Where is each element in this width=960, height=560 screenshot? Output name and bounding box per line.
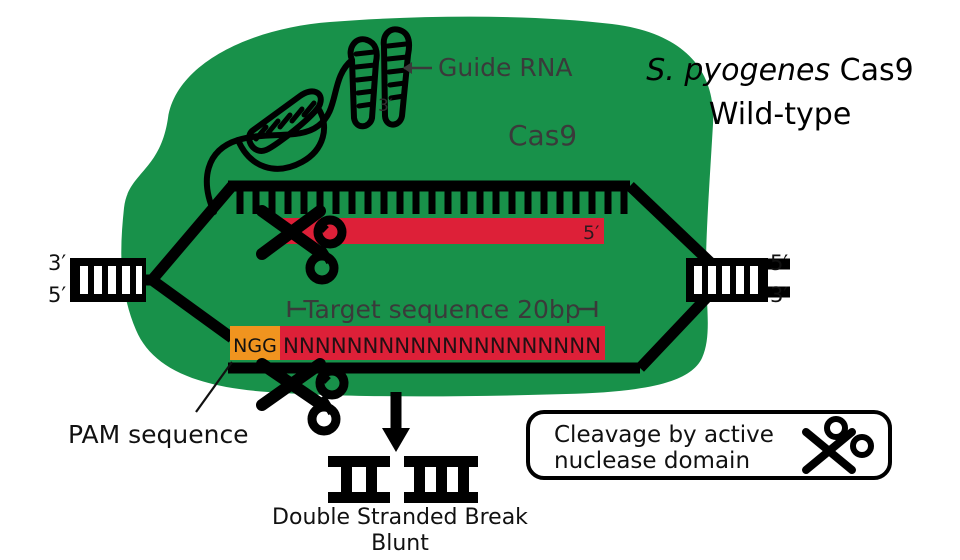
dsb-fragment-left bbox=[328, 456, 390, 503]
dsb-fragment-right bbox=[404, 456, 478, 503]
right-end-top-label: 5′ bbox=[770, 251, 788, 275]
guide-rna-label: Guide RNA bbox=[438, 53, 573, 82]
protospacer-sequence-label: NNNNNNNNNNNNNNNNNNNN bbox=[283, 334, 601, 358]
legend-label-line2: nuclease domain bbox=[554, 448, 750, 474]
left-end-top-label: 3′ bbox=[48, 251, 66, 275]
left-dna-end bbox=[70, 258, 146, 302]
legend-label-line1: Cleavage by active bbox=[554, 422, 774, 448]
page-title: S. pyogenes Cas9 bbox=[646, 53, 913, 88]
scissors-icon-lower-cut bbox=[262, 364, 344, 431]
page-subtitle: Wild-type bbox=[709, 97, 852, 132]
target-sequence-label: Target sequence 20bp bbox=[302, 295, 580, 324]
figure-canvas: 3′ Guide RNA Cas9 S. pyogenes Cas9 Wild-… bbox=[0, 0, 960, 560]
crispr-cas9-diagram: 3′ Guide RNA Cas9 S. pyogenes Cas9 Wild-… bbox=[0, 0, 960, 560]
outcome-label-line2: Blunt bbox=[371, 531, 429, 556]
pam-box-label: NGG bbox=[233, 335, 277, 357]
title-genus: S. pyogenes bbox=[646, 53, 830, 88]
left-end-bottom-label: 5′ bbox=[48, 283, 66, 307]
cas9-protein-label: Cas9 bbox=[508, 119, 577, 152]
upper-strand-five-prime-label: 5′ bbox=[583, 222, 599, 244]
right-end-bottom-label: 3′ bbox=[770, 283, 788, 307]
guide-rna-three-prime-label: 3′ bbox=[378, 96, 393, 116]
right-dna-end bbox=[686, 258, 768, 302]
pam-callout-label: PAM sequence bbox=[68, 420, 249, 449]
title-rest: Cas9 bbox=[830, 53, 914, 88]
down-arrow-icon bbox=[382, 392, 410, 452]
outcome-label-line1: Double Stranded Break bbox=[272, 505, 528, 530]
